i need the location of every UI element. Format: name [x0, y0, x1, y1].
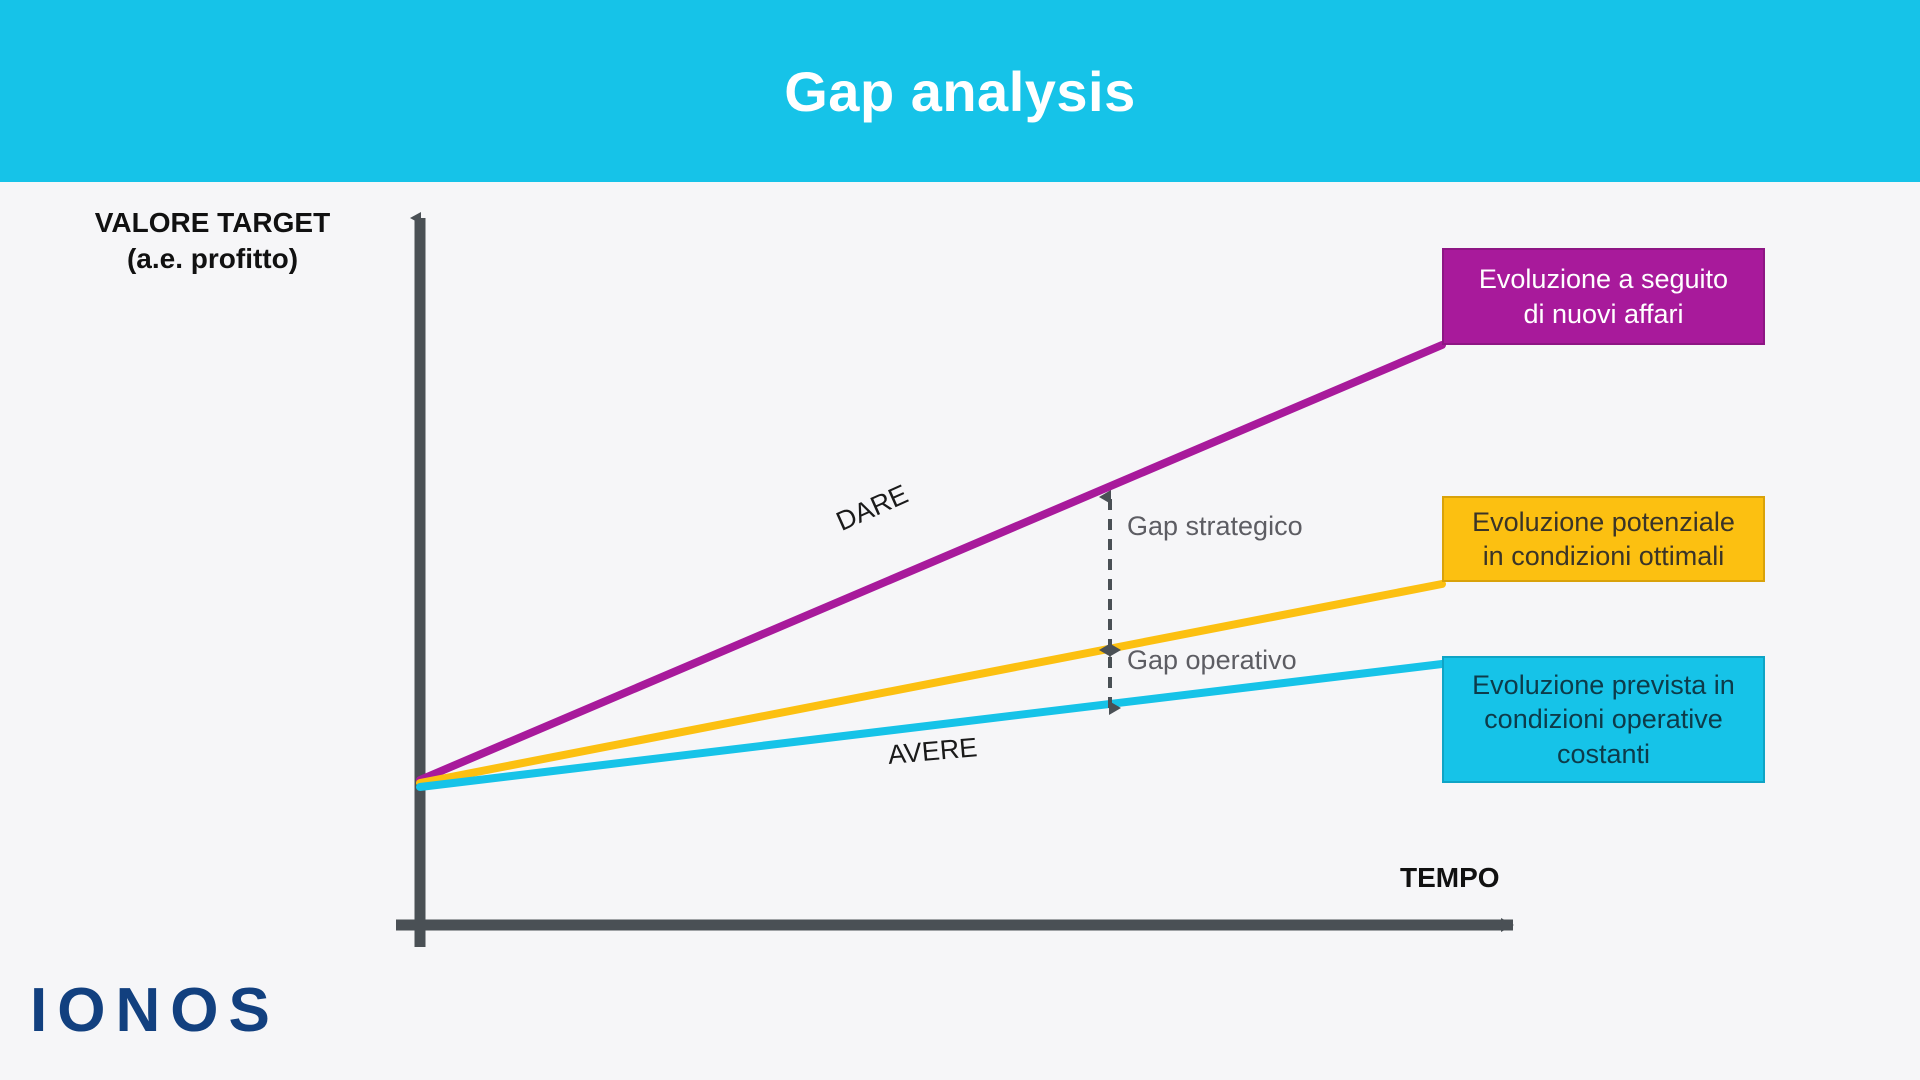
callout-new-business: Evoluzione a seguito di nuovi affari — [1442, 248, 1765, 345]
callout-yellow-line2: in condizioni ottimali — [1483, 541, 1725, 571]
callout-cyan-line2: condizioni operative — [1484, 704, 1723, 734]
series-line-purple — [420, 345, 1442, 780]
callout-forecast-constant: Evoluzione prevista in condizioni operat… — [1442, 656, 1765, 783]
gap-analysis-infographic: Gap analysis — [0, 0, 1920, 1080]
callout-cyan-line1: Evoluzione prevista in — [1472, 670, 1735, 700]
x-axis-title: TEMPO — [1400, 862, 1500, 894]
callout-cyan-line3: costanti — [1557, 739, 1650, 769]
y-axis-title: VALORE TARGET (a.e. profitto) — [60, 205, 365, 277]
callout-potential-growth: Evoluzione potenziale in condizioni otti… — [1442, 496, 1765, 582]
callout-purple-line2: di nuovi affari — [1523, 299, 1683, 329]
callout-yellow-line1: Evoluzione potenziale — [1472, 507, 1735, 537]
page-title: Gap analysis — [0, 0, 1920, 182]
gap-operativo-label: Gap operativo — [1127, 645, 1297, 676]
y-axis-title-line1: VALORE TARGET — [95, 207, 330, 238]
callout-purple-line1: Evoluzione a seguito — [1479, 264, 1728, 294]
ionos-logo: IONOS — [30, 975, 280, 1046]
y-axis-title-line2: (a.e. profitto) — [60, 241, 365, 277]
gap-strategico-label: Gap strategico — [1127, 511, 1303, 542]
